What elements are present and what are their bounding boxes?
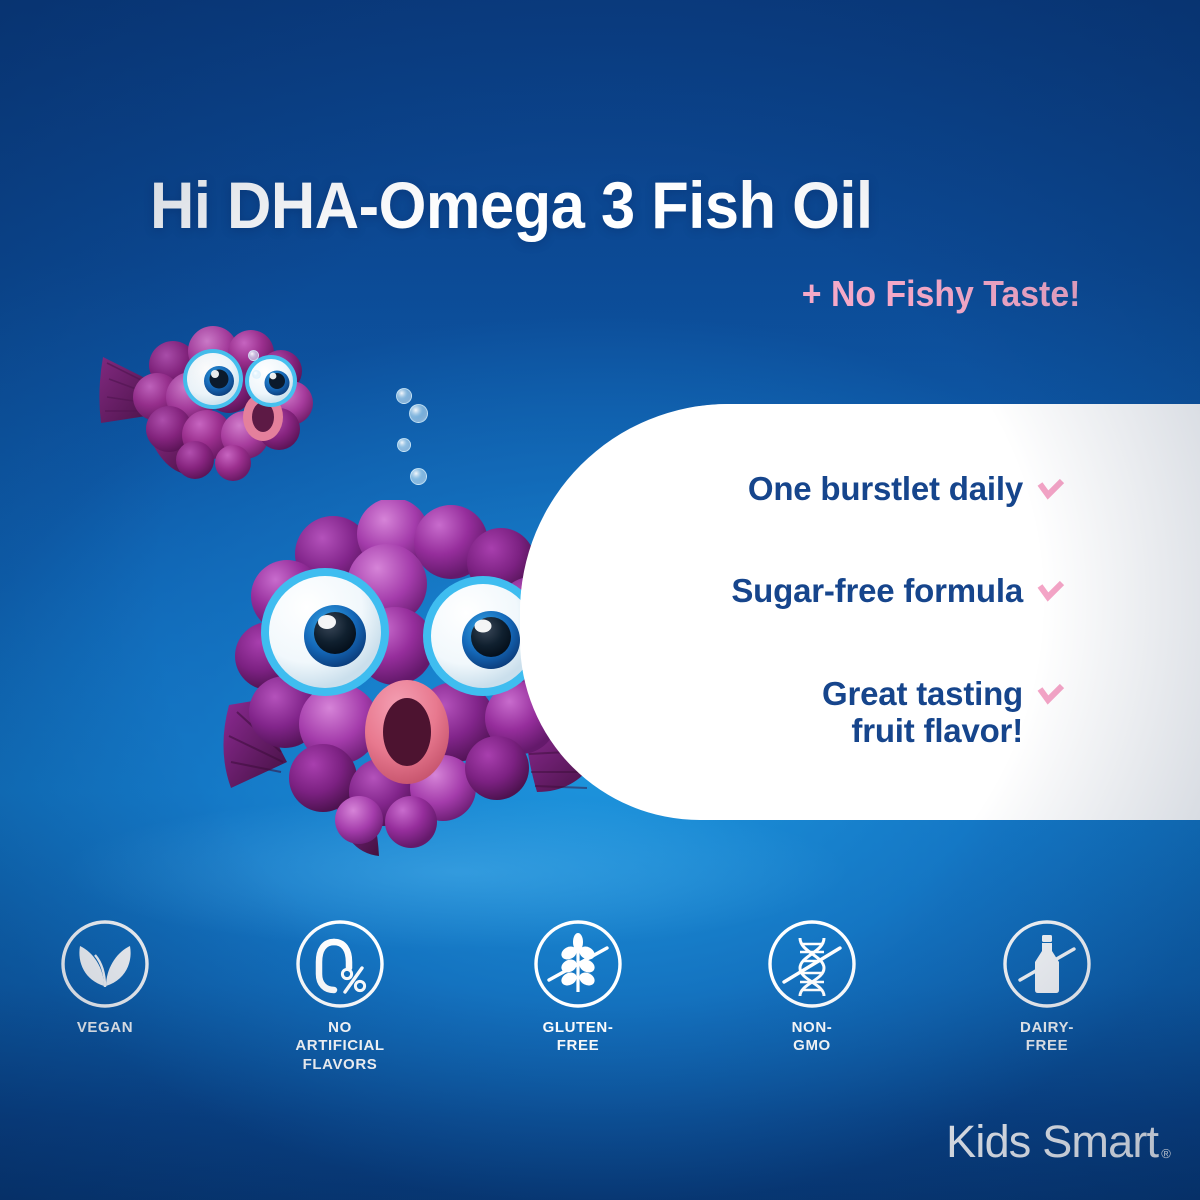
- benefit-item: Great tasting fruit flavor!: [640, 675, 1065, 750]
- badge-label: GLUTEN- FREE: [498, 1019, 658, 1056]
- badge-label: NON- GMO: [732, 1019, 892, 1056]
- wheat-no-icon: [532, 918, 624, 1010]
- badge-gluten-free: GLUTEN- FREE: [498, 918, 658, 1056]
- badge-non-gmo: NON- GMO: [732, 918, 892, 1056]
- benefit-item: One burstlet daily: [640, 470, 1065, 508]
- zero-percent-icon: [294, 918, 386, 1010]
- leaf-icon: [59, 918, 151, 1010]
- check-icon: [1037, 581, 1065, 603]
- small-berry-fish: [95, 305, 335, 485]
- bubble-icon: [397, 438, 411, 452]
- registered-mark: ®: [1161, 1146, 1170, 1161]
- badge-label: NO ARTIFICIAL FLAVORS: [260, 1019, 420, 1074]
- benefit-label: One burstlet daily: [748, 470, 1023, 508]
- bubble-icon: [248, 350, 259, 361]
- benefit-label: Great tasting fruit flavor!: [822, 675, 1023, 750]
- badge-label: VEGAN: [25, 1019, 185, 1037]
- page-title: Hi DHA-Omega 3 Fish Oil: [150, 172, 1015, 238]
- milk-bottle-no-icon: [1001, 918, 1093, 1010]
- benefit-item: Sugar-free formula: [640, 572, 1065, 610]
- badge-label: DAIRY- FREE: [967, 1019, 1127, 1056]
- badge-dairy-free: DAIRY- FREE: [967, 918, 1127, 1056]
- benefits-list: One burstlet daily Sugar-free formula Gr…: [640, 452, 1065, 772]
- brand-name: Kids Smart: [946, 1116, 1158, 1168]
- badge-vegan: VEGAN: [25, 918, 185, 1037]
- badge-no-artificial-flavors: NO ARTIFICIAL FLAVORS: [260, 918, 420, 1074]
- certification-badges: VEGAN NO ARTIFICIAL FLAVORS: [0, 918, 1200, 1078]
- bubble-icon: [252, 370, 261, 379]
- bubble-icon: [409, 404, 428, 423]
- bubble-icon: [396, 388, 412, 404]
- promo-banner: One burstlet daily Sugar-free formula Gr…: [0, 0, 1200, 1200]
- brand-logo: Kids Smart ®: [946, 1116, 1170, 1168]
- dna-no-icon: [766, 918, 858, 1010]
- check-icon: [1037, 479, 1065, 501]
- bubble-icon: [410, 468, 427, 485]
- check-icon: [1037, 684, 1065, 706]
- benefit-label: Sugar-free formula: [731, 572, 1023, 610]
- page-subtitle: + No Fishy Taste!: [801, 276, 1080, 312]
